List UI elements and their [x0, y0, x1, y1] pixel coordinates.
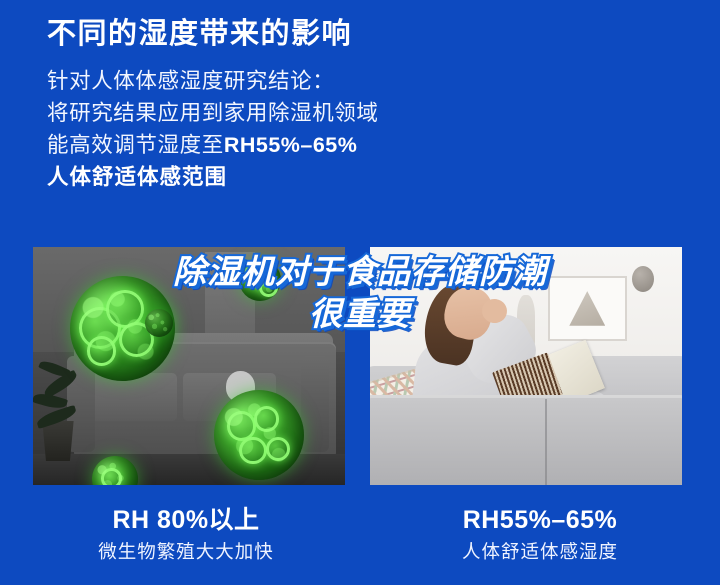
wall-picture-frame: [548, 276, 627, 342]
microbe-cluster-bottom: [214, 390, 304, 480]
header-text-block: 不同的湿度带来的影响 针对人体体感湿度研究结论： 将研究结果应用到家用除湿机领域…: [47, 16, 687, 194]
conclusion-line-4: 人体舒适体感范围: [47, 162, 687, 194]
bright-room-scene: [370, 247, 682, 485]
conclusion-line-3: 能高效调节湿度至RH55%–65%: [47, 130, 687, 162]
caption-comfort-humidity: RH55%–65% 人体舒适体感湿度: [360, 505, 720, 566]
dim-plant-leaf: [39, 358, 71, 379]
humidity-range-value: RH55%–65%: [224, 133, 358, 157]
photo-bright-room-woman-reading: [370, 247, 682, 485]
conclusion-line-2: 将研究结果应用到家用除湿机领域: [47, 98, 687, 130]
caption-high-humidity-value: RH 80%以上: [6, 505, 366, 536]
caption-comfort-humidity-note: 人体舒适体感湿度: [360, 539, 720, 566]
dim-room-scene: [33, 247, 345, 485]
caption-row: RH 80%以上 微生物繁殖大大加快 RH55%–65% 人体舒适体感湿度: [0, 505, 720, 566]
page-title: 不同的湿度带来的影响: [47, 16, 687, 52]
photo-dim-room-with-microbes: [33, 247, 345, 485]
bright-sofa-seam: [545, 399, 547, 485]
bright-sofa-seat: [370, 395, 682, 485]
caption-high-humidity: RH 80%以上 微生物繁殖大大加快: [6, 505, 366, 566]
conclusion-list: 针对人体体感湿度研究结论： 将研究结果应用到家用除湿机领域 能高效调节湿度至RH…: [47, 66, 687, 193]
humidity-infographic-poster: 不同的湿度带来的影响 针对人体体感湿度研究结论： 将研究结果应用到家用除湿机领域…: [0, 0, 720, 585]
conclusion-line-1: 针对人体体感湿度研究结论：: [47, 66, 687, 98]
dim-sofa-arm-right: [301, 356, 329, 451]
conclusion-line-3-prefix: 能高效调节湿度至: [47, 133, 224, 157]
caption-comfort-humidity-value: RH55%–65%: [360, 505, 720, 536]
microbe-cluster-small-top: [239, 259, 281, 301]
microbe-speck: [145, 309, 173, 337]
caption-high-humidity-note: 微生物繁殖大大加快: [6, 539, 366, 566]
wall-speaker-icon: [632, 266, 654, 292]
photo-row: [33, 247, 682, 485]
microbe-cluster-small-bottom: [92, 456, 138, 485]
